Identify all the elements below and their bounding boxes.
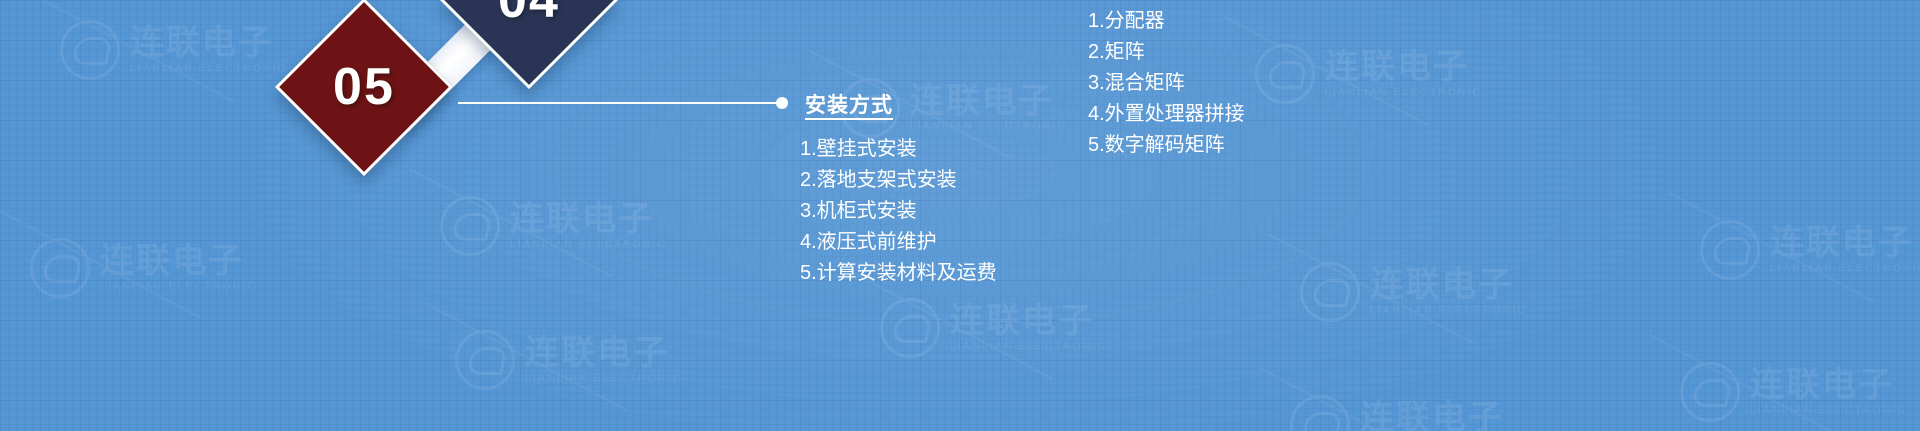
watermark-slash xyxy=(1613,192,1873,408)
slide-canvas: 连联电子LIANLIAN ELECTRONIC连联电子LIANLIAN ELEC… xyxy=(0,0,1920,431)
list-item: 3.混合矩阵 xyxy=(1088,68,1245,99)
watermark-slash xyxy=(793,270,1053,431)
watermark-logo-icon xyxy=(30,238,90,298)
watermark-logo-icon xyxy=(440,196,500,256)
watermark-slash xyxy=(1203,367,1463,431)
step-number-navy: 04 xyxy=(498,0,560,30)
list-item: 4.外置处理器拼接 xyxy=(1088,99,1245,130)
watermark-slash xyxy=(1213,234,1473,431)
watermark-brand-en: LIANLIAN ELECTRONIC xyxy=(1770,264,1920,274)
watermark-logo-icon xyxy=(1700,220,1760,280)
watermark-brand-en: LIANLIAN ELECTRONIC xyxy=(950,342,1107,352)
watermark: 连联电子LIANLIAN ELECTRONIC xyxy=(455,330,682,390)
watermark-brand-en: LIANLIAN ELECTRONIC xyxy=(910,122,1067,132)
list-item: 1.壁挂式安装 xyxy=(800,134,997,165)
watermark-text: 连联电子LIANLIAN ELECTRONIC xyxy=(1770,226,1920,274)
list-item: 5.数字解码矩阵 xyxy=(1088,130,1245,161)
watermark-logo-icon xyxy=(1680,362,1740,422)
watermark-slash xyxy=(353,168,613,384)
watermark-brand-en: LIANLIAN ELECTRONIC xyxy=(1750,406,1907,416)
watermark-brand-cn: 连联电子 xyxy=(1360,401,1517,431)
list-item: 3.机柜式安装 xyxy=(800,196,997,227)
watermark-logo-icon xyxy=(60,20,120,80)
watermark-brand-cn: 连联电子 xyxy=(1750,368,1907,402)
list-item: 2.矩阵 xyxy=(1088,37,1245,68)
installation-method-list: 1.壁挂式安装 2.落地支架式安装 3.机柜式安装 4.液压式前维护 5.计算安… xyxy=(800,134,997,289)
lead-bullet-dot xyxy=(776,97,788,109)
watermark-text: 连联电子LIANLIAN ELECTRONIC xyxy=(1325,50,1482,98)
watermark-text: 连联电子LIANLIAN ELECTRONIC xyxy=(1750,368,1907,416)
watermark: 连联电子LIANLIAN ELECTRONIC xyxy=(1300,262,1527,322)
watermark: 连联电子LIANLIAN ELECTRONIC xyxy=(440,196,667,256)
watermark-text: 连联电子LIANLIAN ELECTRONIC xyxy=(1360,401,1517,431)
watermark-text: 连联电子LIANLIAN ELECTRONIC xyxy=(525,336,682,384)
previous-section-list: 1.分配器 2.矩阵 3.混合矩阵 4.外置处理器拼接 5.数字解码矩阵 xyxy=(1088,6,1245,161)
watermark-slash xyxy=(0,0,233,208)
list-item: 2.落地支架式安装 xyxy=(800,165,997,196)
watermark-text: 连联电子LIANLIAN ELECTRONIC xyxy=(130,26,287,74)
watermark: 连联电子LIANLIAN ELECTRONIC xyxy=(1255,44,1482,104)
watermark: 连联电子LIANLIAN ELECTRONIC xyxy=(880,298,1107,358)
watermark: 连联电子LIANLIAN ELECTRONIC xyxy=(30,238,257,298)
watermark-brand-cn: 连联电子 xyxy=(130,26,287,60)
watermark-logo-icon xyxy=(880,298,940,358)
section-title: 安装方式 xyxy=(805,89,893,119)
watermark-logo-icon xyxy=(1300,262,1360,322)
list-item: 1.分配器 xyxy=(1088,6,1245,37)
watermark: 连联电子LIANLIAN ELECTRONIC xyxy=(1680,362,1907,422)
watermark-brand-cn: 连联电子 xyxy=(1325,50,1482,84)
watermark-logo-icon xyxy=(455,330,515,390)
watermark-text: 连联电子LIANLIAN ELECTRONIC xyxy=(910,84,1067,132)
watermark-brand-en: LIANLIAN ELECTRONIC xyxy=(510,240,667,250)
lead-line xyxy=(458,102,780,104)
watermark-brand-cn: 连联电子 xyxy=(1770,226,1920,260)
step-diamond-red[interactable]: 05 xyxy=(275,0,453,176)
watermark-text: 连联电子LIANLIAN ELECTRONIC xyxy=(100,244,257,292)
watermark-brand-en: LIANLIAN ELECTRONIC xyxy=(525,374,682,384)
watermark-logo-icon xyxy=(1290,395,1350,431)
watermark: 连联电子LIANLIAN ELECTRONIC xyxy=(1290,395,1517,431)
watermark: 连联电子LIANLIAN ELECTRONIC xyxy=(60,20,287,80)
watermark-text: 连联电子LIANLIAN ELECTRONIC xyxy=(950,304,1107,352)
watermark-slash xyxy=(1593,334,1853,431)
watermark-brand-cn: 连联电子 xyxy=(950,304,1107,338)
watermark-brand-en: LIANLIAN ELECTRONIC xyxy=(100,282,257,292)
watermark-brand-en: LIANLIAN ELECTRONIC xyxy=(1325,88,1482,98)
watermark: 连联电子LIANLIAN ELECTRONIC xyxy=(1700,220,1920,280)
list-item: 4.液压式前维护 xyxy=(800,227,997,258)
watermark-brand-cn: 连联电子 xyxy=(910,84,1067,118)
list-item: 5.计算安装材料及运费 xyxy=(800,258,997,289)
watermark-brand-cn: 连联电子 xyxy=(1370,268,1527,302)
watermark-brand-cn: 连联电子 xyxy=(100,244,257,278)
step-number-red: 05 xyxy=(333,57,395,117)
watermark-slash xyxy=(368,302,628,431)
watermark-slash xyxy=(0,210,203,426)
watermark-brand-en: LIANLIAN ELECTRONIC xyxy=(1370,306,1527,316)
watermark-brand-cn: 连联电子 xyxy=(525,336,682,370)
watermark-logo-icon xyxy=(1255,44,1315,104)
watermark-brand-cn: 连联电子 xyxy=(510,202,667,236)
watermark-text: 连联电子LIANLIAN ELECTRONIC xyxy=(1370,268,1527,316)
watermark-brand-en: LIANLIAN ELECTRONIC xyxy=(130,64,287,74)
watermark-text: 连联电子LIANLIAN ELECTRONIC xyxy=(510,202,667,250)
